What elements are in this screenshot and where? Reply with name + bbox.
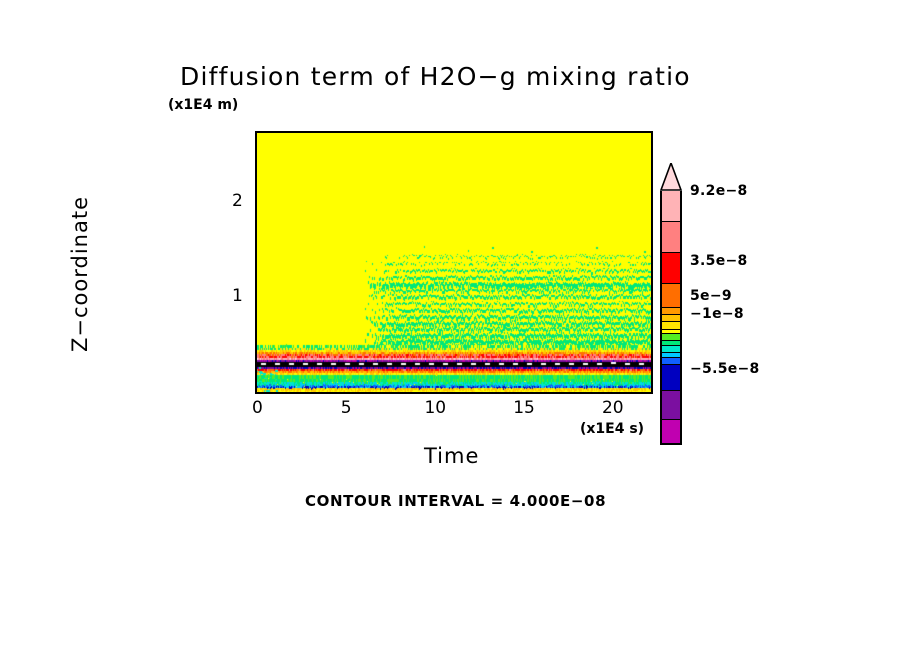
colorbar <box>660 163 682 444</box>
contour-interval-caption: CONTOUR INTERVAL = 4.000E−08 <box>305 492 606 510</box>
colorbar-segment <box>660 420 682 444</box>
contour-plot-area <box>255 131 653 394</box>
colorbar-tick-label: −5.5e−8 <box>690 361 760 377</box>
y-tick-label: 1 <box>232 286 904 306</box>
colorbar-segment <box>660 222 682 253</box>
y-axis-label: Z−coordinate <box>68 174 92 374</box>
colorbar-tick-label: 3.5e−8 <box>690 253 748 269</box>
colorbar-separator <box>660 443 682 445</box>
contour-field-canvas <box>257 133 651 392</box>
colorbar-segment <box>660 284 682 308</box>
page-title: Diffusion term of H2O−g mixing ratio <box>180 62 691 91</box>
y-axis-unit-label: (x1E4 m) <box>168 97 238 113</box>
colorbar-tick-label: 5e−9 <box>690 288 732 304</box>
colorbar-segment <box>660 191 682 222</box>
x-tick-label: 20 <box>602 398 624 418</box>
x-tick-label: 5 <box>341 398 352 418</box>
x-tick-label: 10 <box>424 398 446 418</box>
x-tick-label: 15 <box>513 398 535 418</box>
colorbar-tick-label: −1e−8 <box>690 306 744 322</box>
x-axis-unit-label: (x1E4 s) <box>580 421 644 437</box>
y-tick-label: 2 <box>232 191 904 211</box>
colorbar-segment <box>660 391 682 420</box>
figure-root: Diffusion term of H2O−g mixing ratio (x1… <box>0 0 904 654</box>
colorbar-segment <box>660 365 682 391</box>
colorbar-tick-label: 9.2e−8 <box>690 183 748 199</box>
x-axis-label: Time <box>424 444 479 468</box>
x-tick-label: 0 <box>252 398 263 418</box>
colorbar-segment <box>660 253 682 284</box>
